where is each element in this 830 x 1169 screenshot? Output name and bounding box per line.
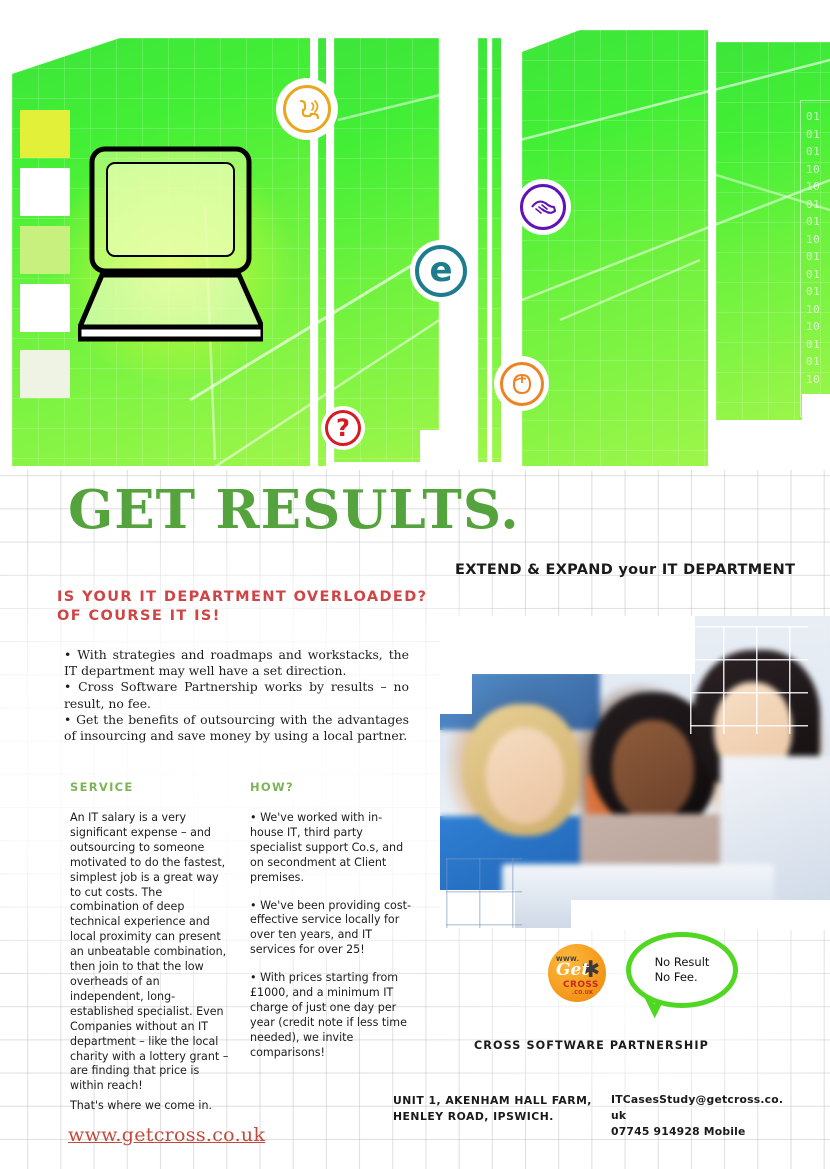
color-chip-3 [20, 226, 70, 274]
column-how-paragraph-1: • We've worked with in-house IT, third p… [250, 811, 415, 886]
e-glyph: e [429, 253, 452, 287]
kicker-line-2: OF COURSE IT IS! [57, 607, 457, 626]
column-how-paragraph-2: • We've been providing cost-effective se… [250, 899, 415, 959]
speech-bubble: No Result No Fee. [626, 932, 738, 1008]
address-block: UNIT 1, AKENHAM HALL FARM, HENLEY ROAD, … [393, 1093, 593, 1125]
column-how: HOW? • We've worked with in-house IT, th… [250, 780, 415, 1074]
hero-artwork: 01 01 01 10 10 01 01 10 01 01 01 10 10 0… [0, 0, 830, 470]
closing-line: That's where we come in. [70, 1099, 290, 1112]
lede-bullet-1: • With strategies and roadmaps and works… [64, 647, 409, 679]
photo-knockout-bottom [571, 900, 830, 930]
laptop-illustration [78, 145, 263, 345]
column-how-title: HOW? [250, 780, 415, 794]
kicker-line-1: IS YOUR IT DEPARTMENT OVERLOADED? [57, 588, 457, 607]
phone-number: 07745 914928 Mobile [611, 1124, 811, 1140]
mouse-icon [494, 356, 549, 411]
email-line-2[interactable]: uk [611, 1108, 811, 1124]
lede-bullets: • With strategies and roadmaps and works… [64, 647, 409, 744]
flyer-page: 01 01 01 10 10 01 01 10 01 01 01 10 10 0… [0, 0, 830, 1169]
company-name: CROSS SOFTWARE PARTNERSHIP [474, 1039, 709, 1052]
speech-bubble-line-2: No Fee. [655, 970, 710, 985]
address-line-2: HENLEY ROAD, IPSWICH. [393, 1109, 593, 1125]
color-chip-4 [20, 284, 70, 332]
column-how-paragraph-3: • With prices starting from £1000, and a… [250, 971, 415, 1060]
section-subheading: EXTEND & EXPAND your IT DEPARTMENT [455, 562, 795, 578]
column-service-title: SERVICE [70, 780, 230, 794]
question-icon: ? [321, 406, 365, 450]
photo-knockout-top [440, 616, 695, 674]
phone-icon [276, 78, 338, 140]
speech-bubble-text: No Result No Fee. [655, 955, 710, 985]
e-commerce-icon: e [410, 240, 472, 302]
email-line-1[interactable]: ITCasesStudy@getcross.co. [611, 1092, 811, 1108]
getcross-logo[interactable]: WWW. ✱ Get CROSS .CO.UK [548, 944, 606, 1002]
column-how-body: • We've worked with in-house IT, third p… [250, 811, 415, 1061]
website-link[interactable]: www.getcross.co.uk [68, 1124, 265, 1146]
color-chip-1 [20, 110, 70, 158]
lede-bullet-2: • Cross Software Partnership works by re… [64, 679, 409, 711]
logo-cross-text: CROSS [563, 980, 599, 990]
color-chip-2 [20, 168, 70, 216]
photo-knockout-bottom-left [440, 890, 515, 928]
handshake-icon [515, 179, 571, 235]
column-service: SERVICE An IT salary is a very significa… [70, 780, 230, 1107]
question-glyph: ? [336, 416, 350, 440]
contact-block: ITCasesStudy@getcross.co. uk 07745 91492… [611, 1092, 811, 1140]
address-line-1: UNIT 1, AKENHAM HALL FARM, [393, 1093, 593, 1109]
photo-knockout-left [440, 616, 472, 714]
kicker-heading: IS YOUR IT DEPARTMENT OVERLOADED? OF COU… [57, 588, 457, 626]
logo-get-text: Get [556, 962, 589, 979]
logo-couk-text: .CO.UK [572, 990, 593, 996]
color-chip-5 [20, 350, 70, 398]
binary-digits: 01 01 01 10 10 01 01 10 01 01 01 10 10 0… [806, 108, 830, 408]
page-title: GET RESULTS. [68, 484, 520, 537]
lede-bullet-3: • Get the benefits of outsourcing with t… [64, 712, 409, 744]
column-service-body: An IT salary is a very significant expen… [70, 811, 230, 1094]
column-service-paragraph-1: An IT salary is a very significant expen… [70, 811, 230, 1094]
speech-bubble-line-1: No Result [655, 955, 710, 970]
